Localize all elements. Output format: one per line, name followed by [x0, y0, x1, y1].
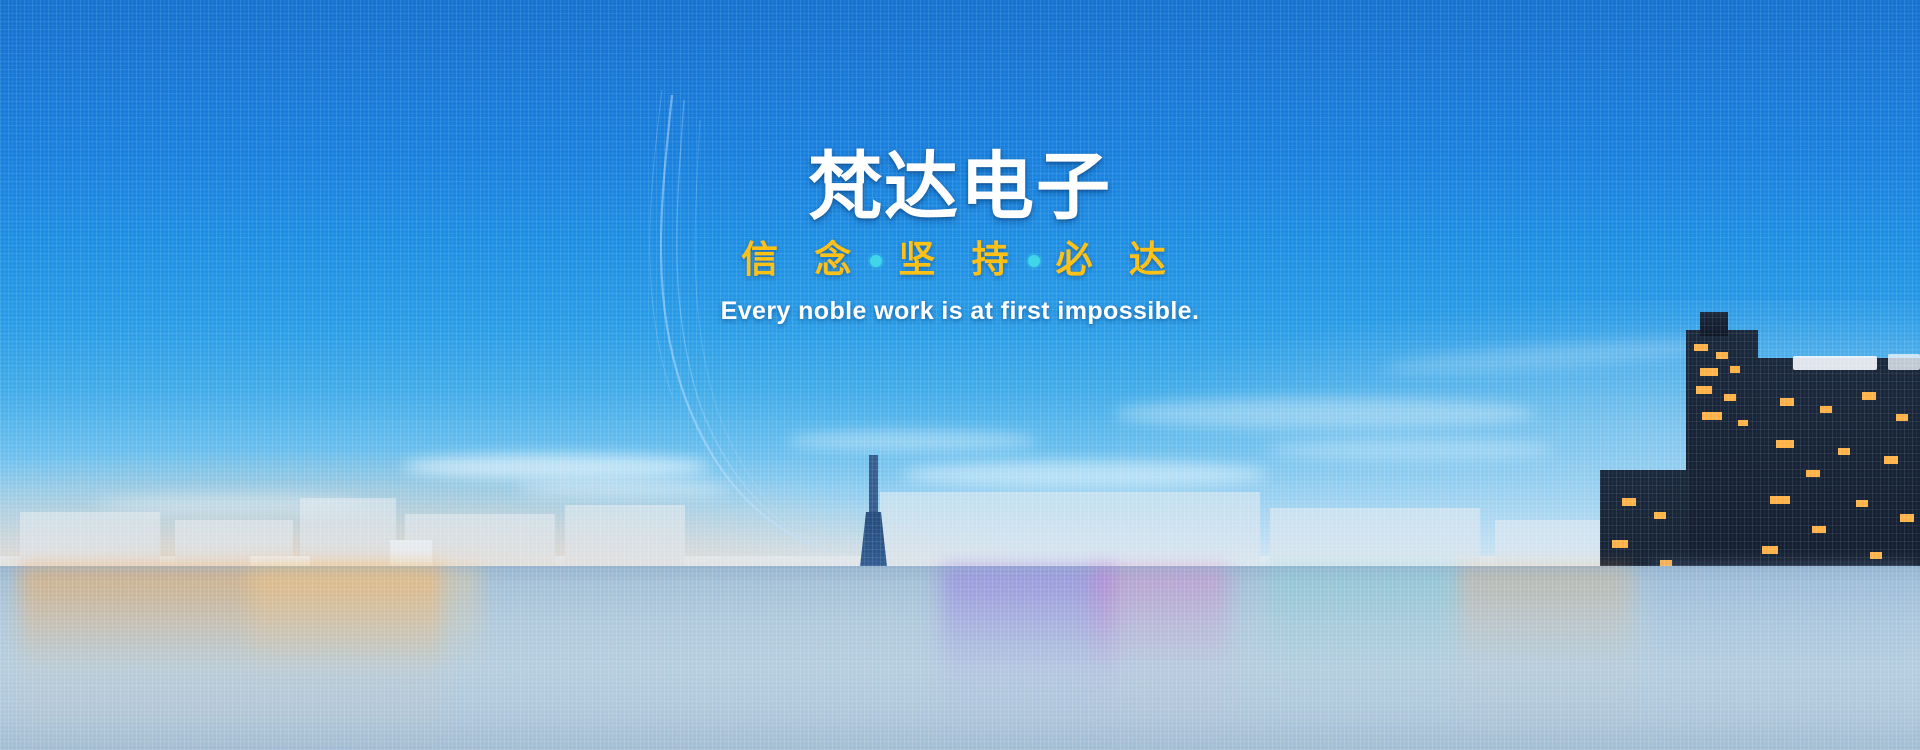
water-light-reflection — [1459, 566, 1632, 750]
banner-title: 梵达电子 — [0, 0, 1920, 226]
water-light-reflection — [250, 566, 480, 750]
water-light-reflection — [1651, 566, 1920, 750]
water-reflection — [0, 566, 1920, 750]
dot-separator-icon — [870, 255, 882, 267]
hero-banner: 梵达电子 信 念 坚 持 必 达 Every noble work is at … — [0, 0, 1920, 750]
banner-text-block: 梵达电子 信 念 坚 持 必 达 Every noble work is at … — [0, 0, 1920, 326]
subtitle-word-1: 信 念 — [737, 240, 868, 281]
dot-separator-icon — [1028, 255, 1040, 267]
banner-subtitle: 信 念 坚 持 必 达 — [0, 226, 1920, 281]
subtitle-word-2: 坚 持 — [894, 240, 1025, 281]
mangrove-sign — [1793, 354, 1920, 370]
water-light-reflection — [1094, 566, 1228, 750]
water-light-reflection — [941, 566, 1114, 750]
water-light-reflection — [1267, 566, 1459, 750]
banner-tagline: Every noble work is at first impossible. — [0, 281, 1920, 326]
subtitle-word-3: 必 达 — [1052, 240, 1183, 281]
